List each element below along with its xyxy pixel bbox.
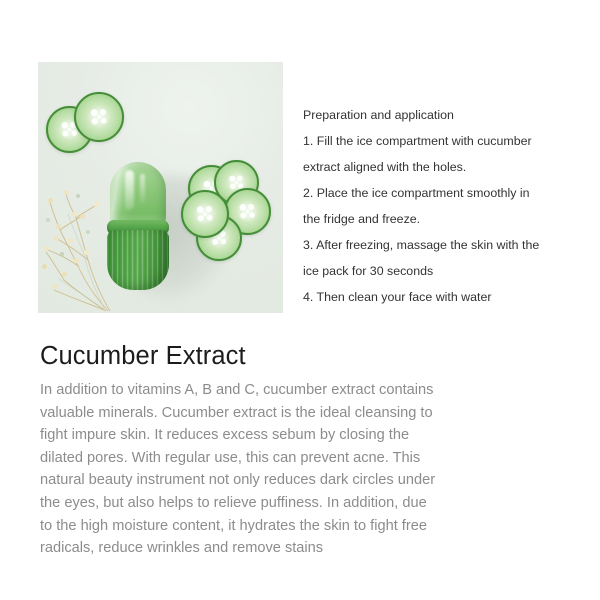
- cucumber-seeds: [236, 200, 259, 223]
- flower-bud: [44, 246, 49, 251]
- preparation-instructions: Preparation and application 1. Fill the …: [303, 102, 573, 310]
- flower-bud: [60, 252, 64, 256]
- instruction-line: 2. Place the ice compartment smoothly in: [303, 180, 573, 206]
- cucumber-seeds: [87, 105, 111, 129]
- instruction-line: 3. After freezing, massage the skin with…: [303, 232, 573, 258]
- flower-bud: [42, 264, 47, 269]
- cucumber-slice: [74, 92, 124, 142]
- flower-bud: [76, 194, 80, 198]
- flower-bud: [56, 224, 61, 229]
- product-info-page: Preparation and application 1. Fill the …: [0, 0, 600, 600]
- article-body: In addition to vitamins A, B and C, cucu…: [40, 379, 560, 560]
- flower-bud: [54, 236, 59, 241]
- instruction-line: ice pack for 30 seconds: [303, 258, 573, 284]
- product-photo: [38, 62, 283, 313]
- flower-bud: [52, 284, 57, 289]
- ice-roller-product: [104, 162, 172, 290]
- body-line: natural beauty instrument not only reduc…: [40, 469, 560, 492]
- body-line: dilated pores. With regular use, this ca…: [40, 447, 560, 470]
- instruction-line: the fridge and freeze.: [303, 206, 573, 232]
- instructions-heading: Preparation and application: [303, 102, 573, 128]
- flower-bud: [84, 250, 89, 255]
- body-line: valuable minerals. Cucumber extract is t…: [40, 402, 560, 425]
- cucumber-slice: [181, 190, 229, 238]
- flower-bud: [64, 190, 69, 195]
- flower-bud: [86, 230, 90, 234]
- flower-bud: [48, 198, 53, 203]
- flower-bud: [72, 212, 77, 217]
- flower-bud: [68, 238, 73, 243]
- dome-highlight: [125, 170, 134, 210]
- ice-roller-ribbed-base: [107, 230, 169, 290]
- body-line: In addition to vitamins A, B and C, cucu…: [40, 379, 560, 402]
- instruction-line: extract aligned with the holes.: [303, 154, 573, 180]
- instruction-line: 4. Then clean your face with water: [303, 284, 573, 310]
- page-title: Cucumber Extract: [40, 340, 560, 372]
- flower-bud: [46, 218, 50, 222]
- instruction-line: 1. Fill the ice compartment with cucumbe…: [303, 128, 573, 154]
- body-line: fight impure skin. It reduces excess seb…: [40, 424, 560, 447]
- flower-bud: [74, 258, 79, 263]
- dome-highlight-secondary: [140, 174, 145, 204]
- flower-bud: [94, 202, 99, 207]
- flower-bud: [62, 272, 67, 277]
- article-section: Cucumber Extract In addition to vitamins…: [40, 340, 560, 560]
- cucumber-seeds: [193, 202, 216, 225]
- body-line: the eyes, but also helps to relieve puff…: [40, 492, 560, 515]
- ice-roller-dome-cap: [110, 162, 166, 228]
- top-section: Preparation and application 1. Fill the …: [0, 0, 600, 320]
- body-line: radicals, reduce wrinkles and remove sta…: [40, 537, 560, 560]
- flower-bud: [80, 214, 85, 219]
- body-line: to the high moisture content, it hydrate…: [40, 515, 560, 538]
- photo-scene: [38, 62, 283, 313]
